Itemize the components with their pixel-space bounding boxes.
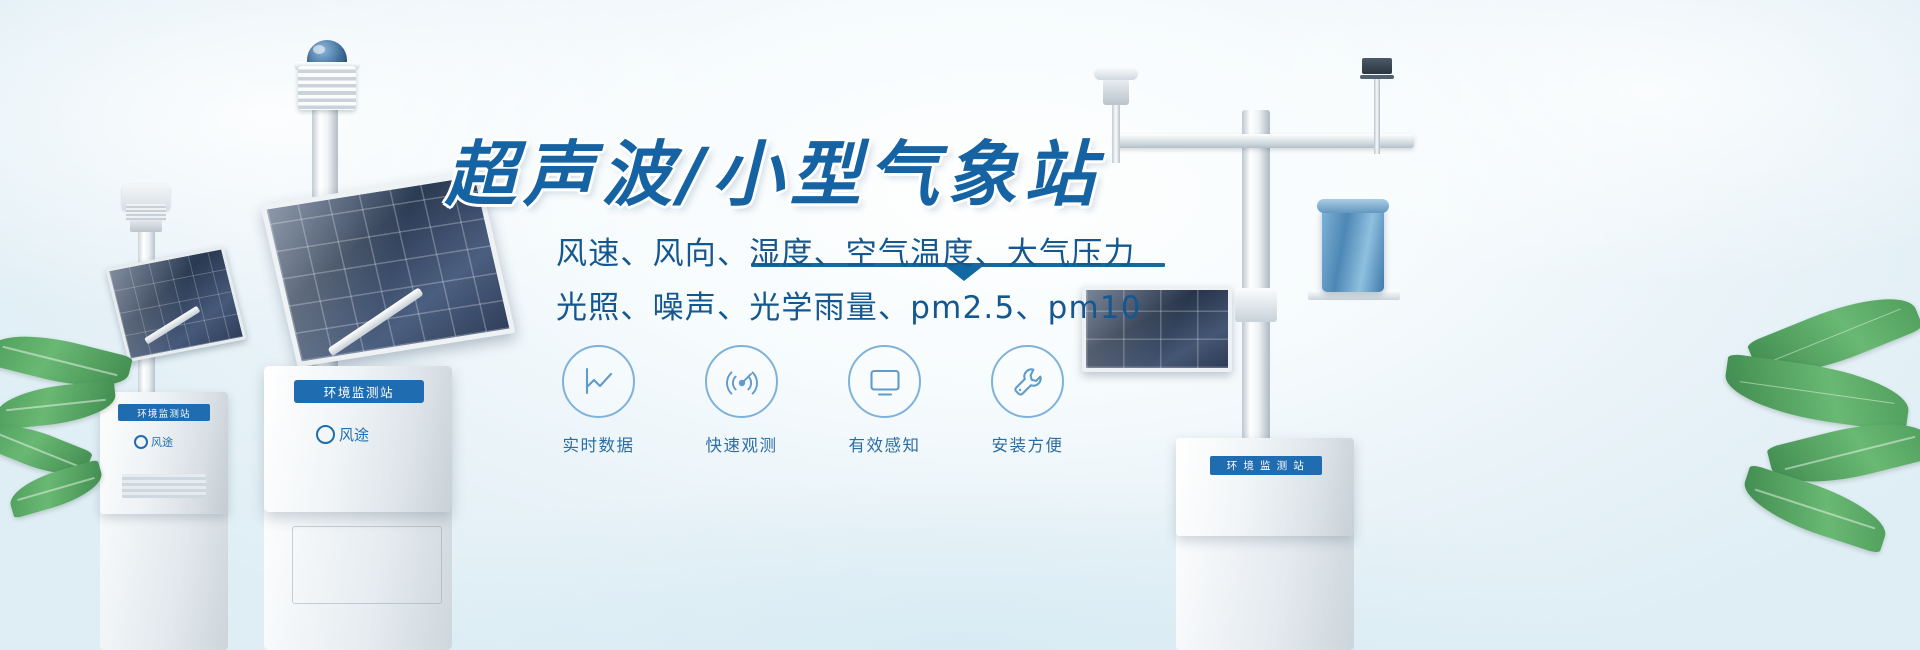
weather-station-right-tower: 环 境 监 测 站 <box>1060 40 1480 650</box>
cabinet-label: 环 境 监 测 站 <box>1210 456 1322 475</box>
brand-name: 风途 <box>151 434 173 450</box>
feature-label: 有效感知 <box>849 432 921 456</box>
feature-item-realtime-data[interactable]: 实时数据 <box>551 345 646 456</box>
product-banner: 环境监测站 风途 环境监测站 风途 <box>0 0 1920 650</box>
ultrasonic-wind-sensor-icon <box>1094 68 1138 118</box>
radar-signal-icon[interactable] <box>705 345 778 418</box>
vane-blade <box>1362 58 1392 74</box>
feature-label: 快速观测 <box>706 432 778 456</box>
sensor-body <box>1103 79 1129 105</box>
feature-item-effective-sensing[interactable]: 有效感知 <box>837 345 932 456</box>
control-cabinet: 环 境 监 测 站 <box>1176 438 1354 536</box>
sensor-cap <box>1094 68 1138 80</box>
feature-item-fast-observation[interactable]: 快速观测 <box>694 345 789 456</box>
cabinet-lower-body <box>1176 532 1354 650</box>
cabinet-label: 环境监测站 <box>118 404 210 421</box>
cabinet-door-panel <box>292 526 442 604</box>
cabinet-lower-body <box>100 510 228 650</box>
brand-logo: 风途 <box>134 434 173 450</box>
mast-collar <box>1235 288 1277 322</box>
cabinet-vent <box>122 474 206 498</box>
cabinet-label: 环境监测站 <box>294 380 424 403</box>
leaf-blade <box>1721 353 1913 432</box>
feature-item-easy-install[interactable]: 安装方便 <box>980 345 1075 456</box>
solar-panel <box>1082 286 1232 372</box>
brand-mark-icon <box>316 425 335 444</box>
brand-mark-icon <box>134 435 148 449</box>
subtitle-line-2: 光照、噪声、光学雨量、pm2.5、pm10 <box>556 282 1142 327</box>
weather-station-left-large: 环境监测站 风途 <box>250 18 550 650</box>
radiation-shield-icon <box>298 66 356 110</box>
rain-gauge-icon <box>1322 206 1384 292</box>
sensor-stem <box>1374 78 1380 154</box>
subtitle-line-1: 风速、风向、湿度、空气温度、大气压力 <box>556 228 1136 273</box>
feature-label: 安装方便 <box>992 432 1064 456</box>
brand-name: 风途 <box>339 424 369 445</box>
line-chart-icon[interactable] <box>562 345 635 418</box>
control-cabinet: 环境监测站 风途 <box>100 392 228 514</box>
solar-panel <box>260 171 515 367</box>
crossarm <box>1114 134 1414 148</box>
sensor-stem <box>1112 103 1120 163</box>
sensor-base <box>130 220 162 232</box>
feature-label: 实时数据 <box>563 432 635 456</box>
brand-logo: 风途 <box>316 424 369 445</box>
solar-panel <box>105 246 246 362</box>
anemometer-bar <box>1360 75 1394 79</box>
monitor-display-icon[interactable] <box>848 345 921 418</box>
chevron-down-icon <box>945 266 983 281</box>
feature-list: 实时数据 快速观测 <box>551 345 1075 456</box>
control-cabinet: 环境监测站 风途 <box>264 366 452 512</box>
cabinet-lower-body <box>264 508 452 650</box>
wind-vane-sensor-icon <box>1360 58 1394 136</box>
wrench-tool-icon[interactable] <box>991 345 1064 418</box>
